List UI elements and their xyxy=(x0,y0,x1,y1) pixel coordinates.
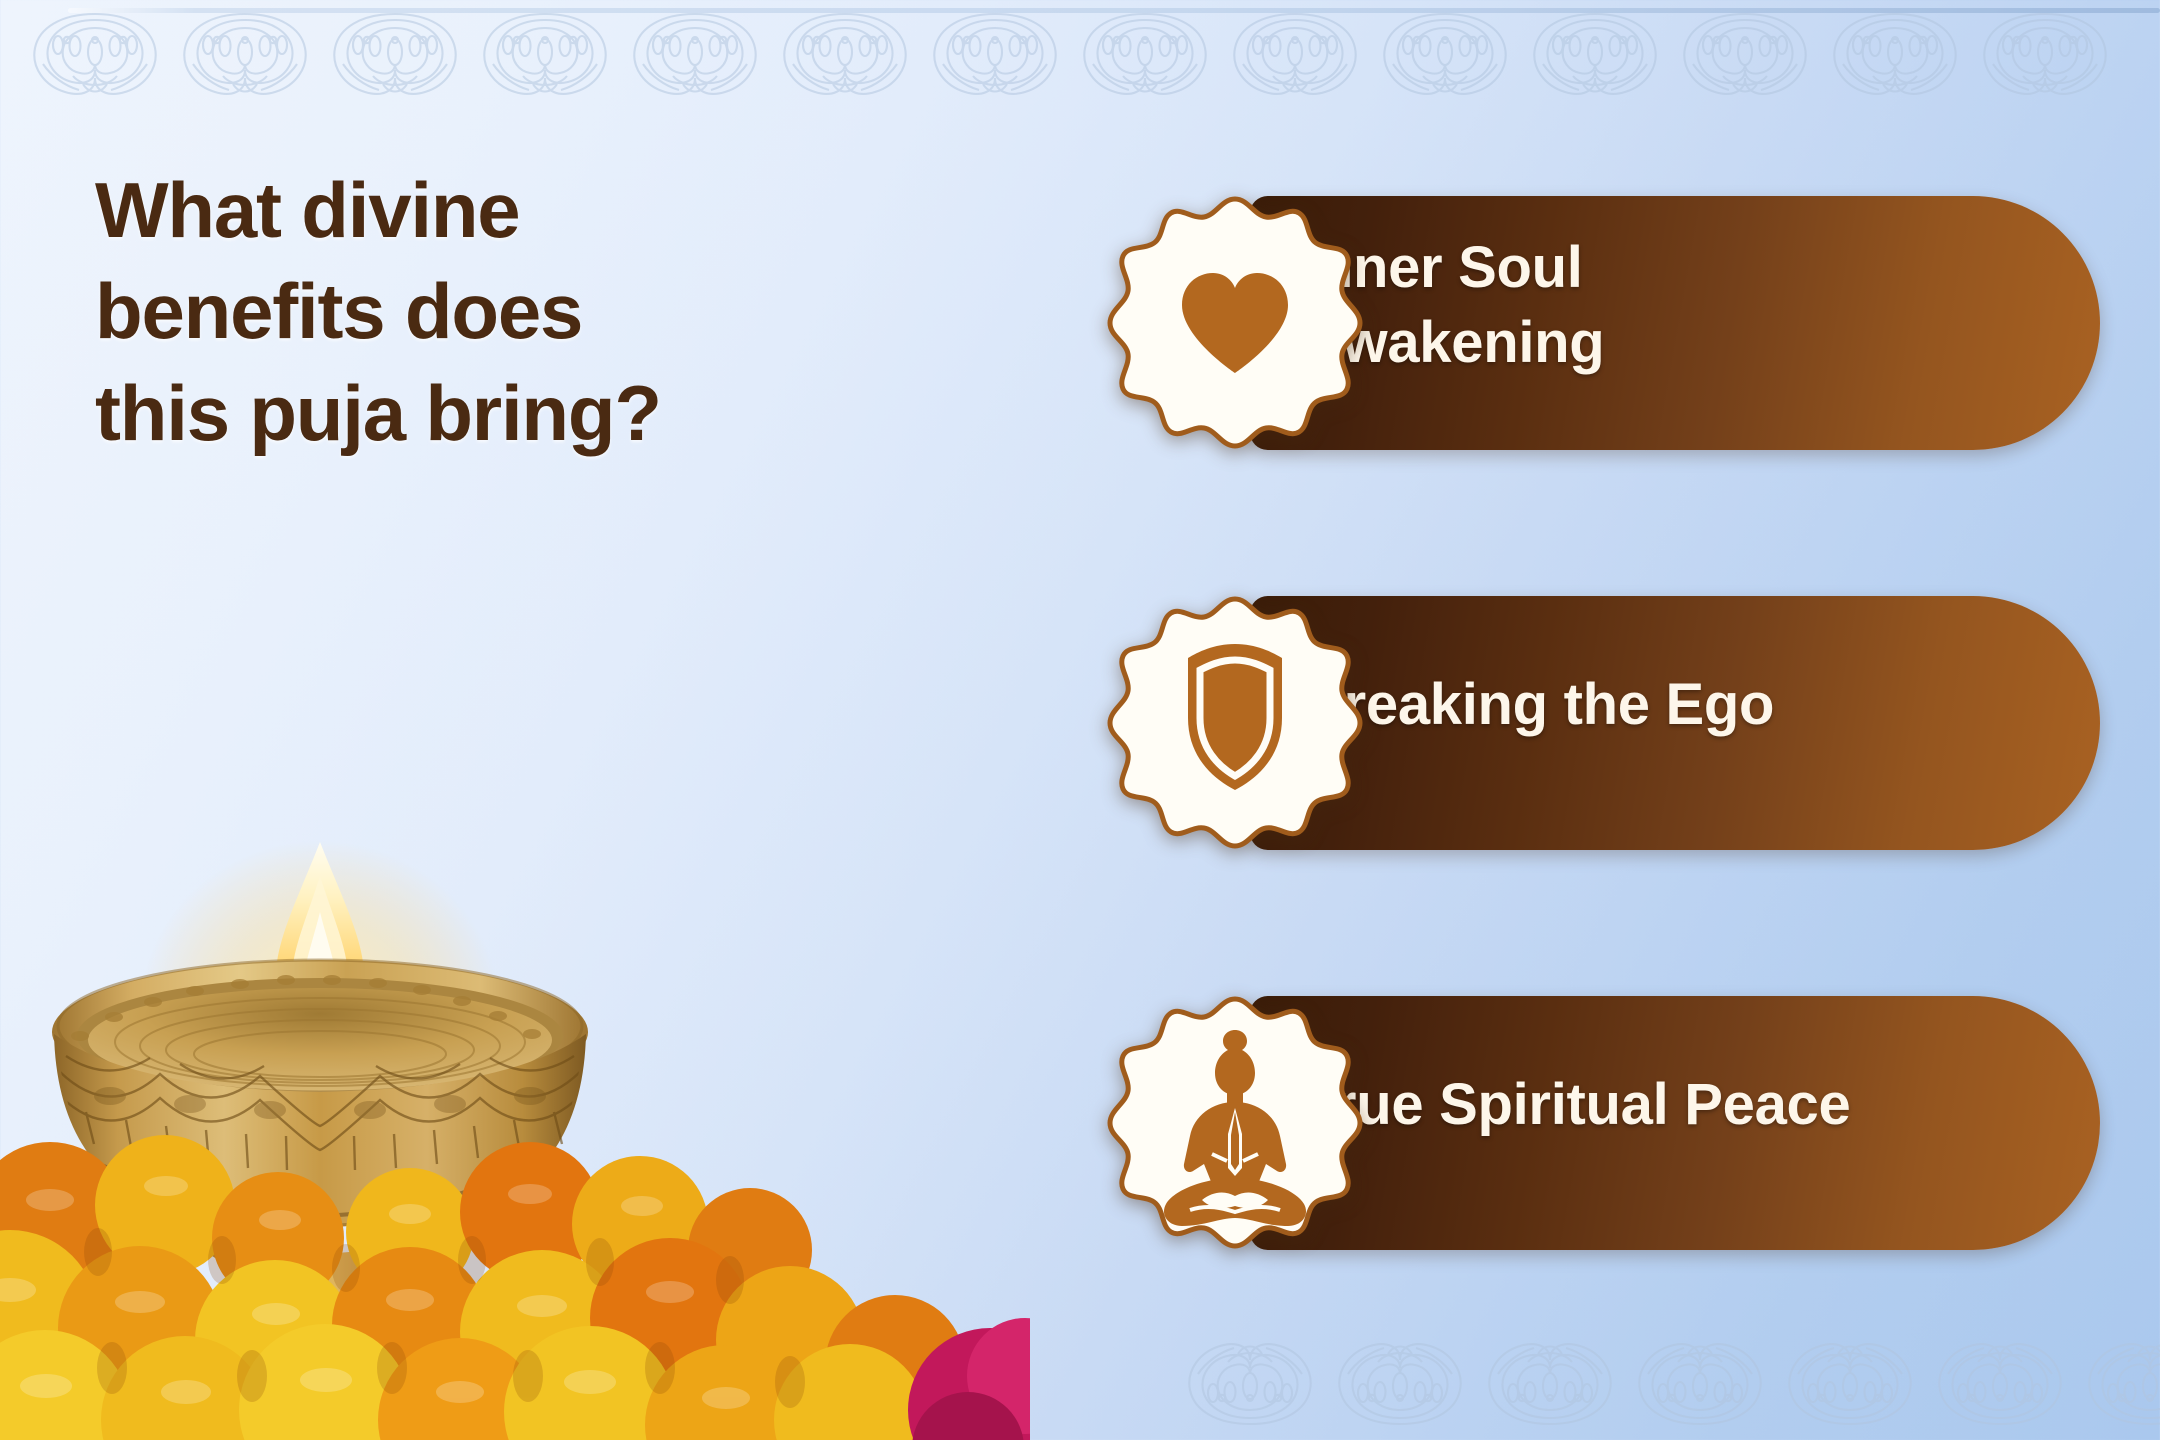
marigold-flower-bed xyxy=(0,1135,1030,1440)
benefit-label-3: True Spiritual Peace xyxy=(1302,978,1902,1232)
top-rule-divider xyxy=(68,8,2160,13)
page-title-line-1: What divine xyxy=(95,160,935,261)
top-mandala-pattern xyxy=(0,0,2160,100)
benefit-item-inner-soul-awakening[interactable]: Inner Soul Awakening xyxy=(1090,178,2100,468)
page-title: What divine benefits does this puja brin… xyxy=(95,160,935,464)
benefits-list: Inner Soul Awakening Breaking the Ego xyxy=(1090,178,2100,1268)
benefit-label-2: Breaking the Ego xyxy=(1302,578,1902,832)
benefit-item-breaking-the-ego[interactable]: Breaking the Ego xyxy=(1090,578,2100,868)
diya-lamp-illustration xyxy=(0,820,1030,1440)
page-title-line-2: benefits does xyxy=(95,261,935,362)
benefit-item-true-spiritual-peace[interactable]: True Spiritual Peace xyxy=(1090,978,2100,1268)
page-title-line-3: this puja bring? xyxy=(95,363,935,464)
benefit-label-3-text: True Spiritual Peace xyxy=(1302,1068,1850,1142)
diya-and-flowers-svg xyxy=(0,820,1030,1440)
benefit-badge-3 xyxy=(1090,978,1380,1268)
top-mandala-border xyxy=(0,0,2160,100)
benefit-badge-1 xyxy=(1090,178,1380,468)
benefit-badge-2 xyxy=(1090,578,1380,868)
benefit-label-1: Inner Soul Awakening xyxy=(1302,178,1902,432)
